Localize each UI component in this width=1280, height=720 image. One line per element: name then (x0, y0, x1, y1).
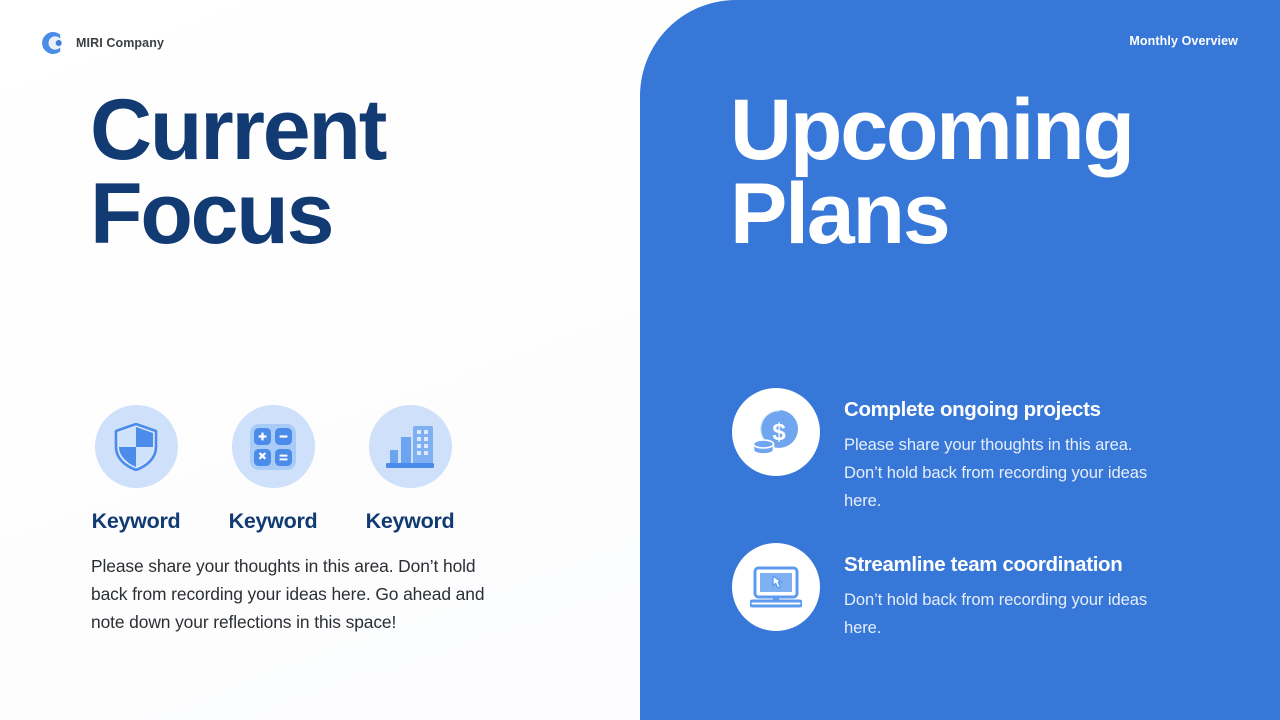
panel-title: Upcoming Plans (730, 88, 1230, 257)
keyword-label: Keyword (92, 509, 181, 534)
keyword-item-building[interactable]: Keyword (364, 405, 456, 534)
plan-body: Don’t hold back from recording your idea… (844, 586, 1149, 642)
c-ring-logo-icon (40, 30, 66, 56)
plan-item[interactable]: $ Complete ongoing projects Please share… (732, 388, 1252, 515)
panel-title-line-2: Plans (730, 172, 1230, 256)
shield-icon (114, 423, 158, 471)
office-building-chart-icon (386, 425, 434, 469)
keyword-icon-bubble (95, 405, 178, 488)
laptop-cursor-icon (750, 566, 802, 608)
plan-body: Please share your thoughts in this area.… (844, 431, 1149, 515)
dollar-coin-icon: $ (751, 408, 801, 456)
keyword-label: Keyword (366, 509, 455, 534)
left-body-paragraph: Please share your thoughts in this area.… (91, 552, 516, 636)
upcoming-plans-panel: Monthly Overview Upcoming Plans $ (640, 0, 1280, 720)
panel-eyebrow-label: Monthly Overview (1129, 34, 1238, 48)
brand-name: MIRI Company (76, 36, 164, 50)
keyword-item-shield[interactable]: Keyword (90, 405, 182, 534)
keyword-icon-bubble (232, 405, 315, 488)
keyword-icon-bubble (369, 405, 452, 488)
keyword-list: Keyword (90, 405, 456, 534)
plan-icon-bubble (732, 543, 820, 631)
plan-heading: Complete ongoing projects (844, 398, 1149, 422)
left-title-line-1: Current (90, 88, 610, 172)
plan-text: Complete ongoing projects Please share y… (844, 388, 1149, 515)
keyword-label: Keyword (229, 509, 318, 534)
plan-icon-bubble: $ (732, 388, 820, 476)
keyword-item-calculator[interactable]: Keyword (227, 405, 319, 534)
panel-title-line-1: Upcoming (730, 88, 1230, 172)
brand: MIRI Company (40, 30, 164, 56)
plan-item[interactable]: Streamline team coordination Don’t hold … (732, 543, 1252, 642)
plan-list: $ Complete ongoing projects Please share… (732, 388, 1252, 670)
left-title-line-2: Focus (90, 172, 610, 256)
slide: MIRI Company Current Focus K (0, 0, 1280, 720)
plan-text: Streamline team coordination Don’t hold … (844, 543, 1149, 642)
svg-text:$: $ (772, 419, 786, 446)
plan-heading: Streamline team coordination (844, 553, 1149, 577)
left-page-title: Current Focus (90, 88, 610, 257)
calculator-icon (250, 424, 296, 470)
